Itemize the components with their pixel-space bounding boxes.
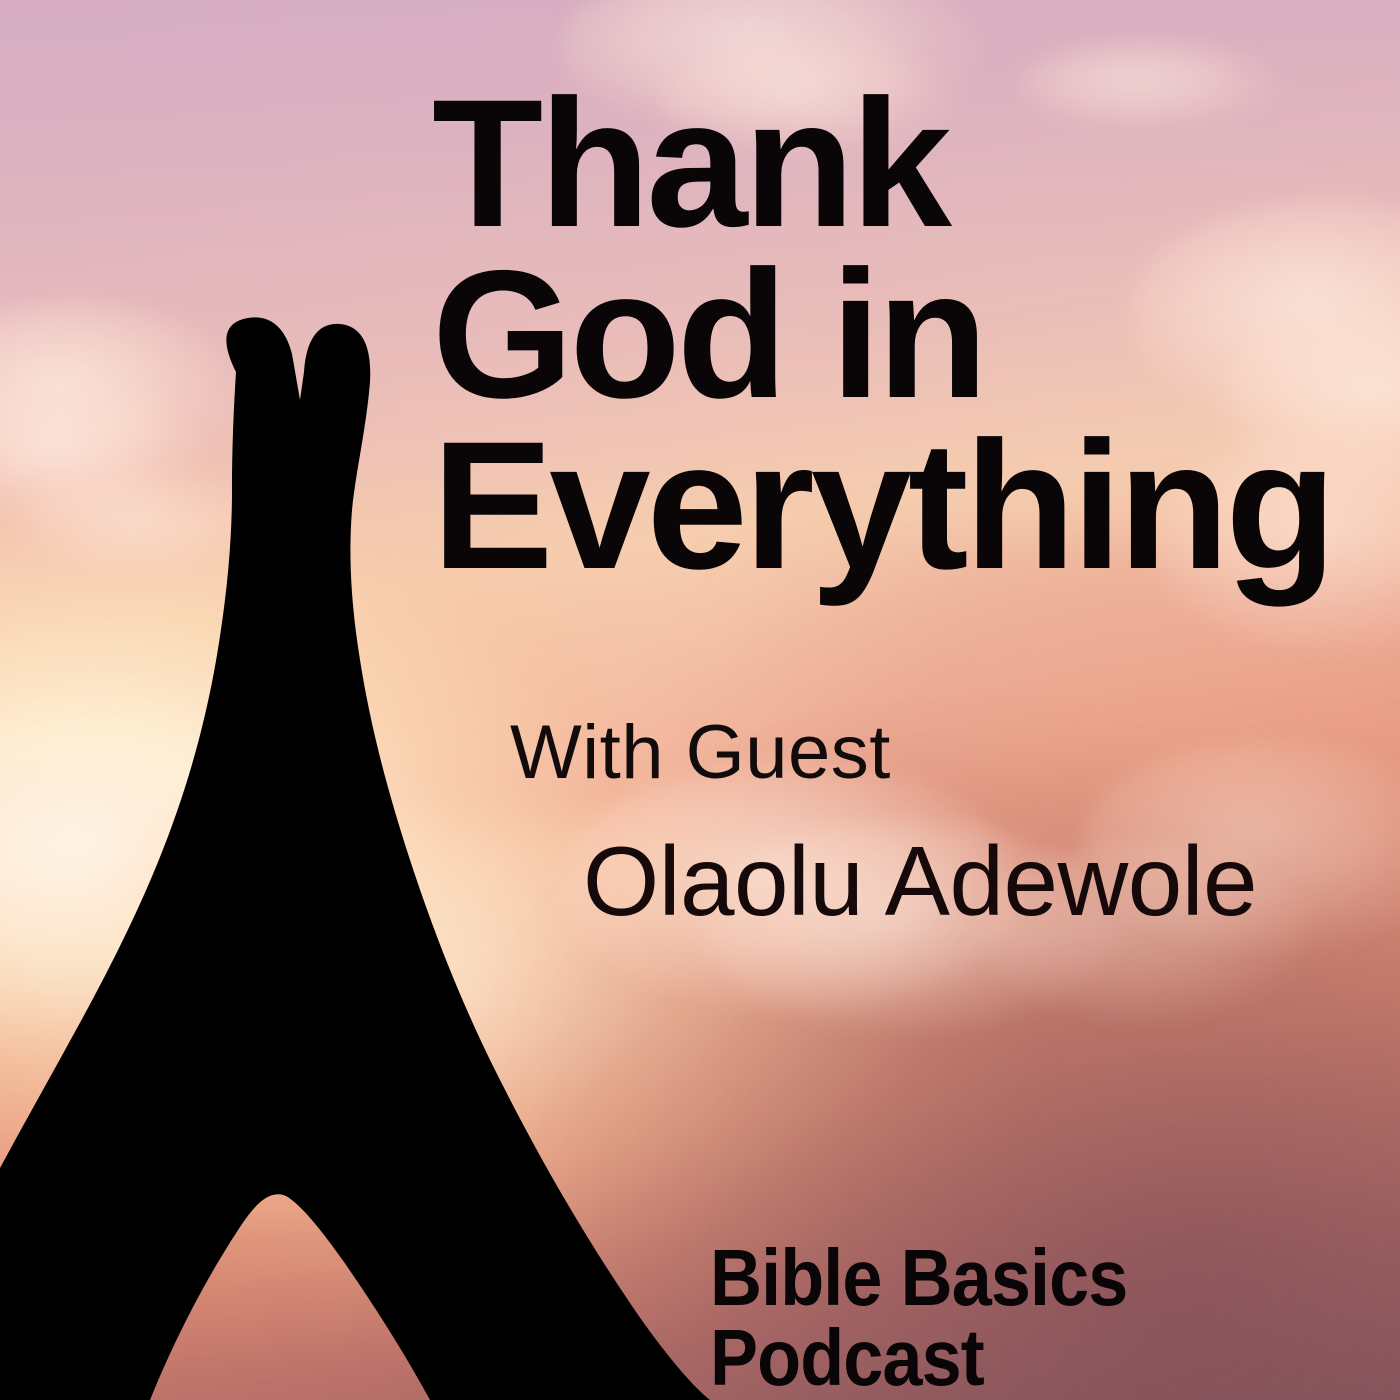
podcast-cover-art: Thank God in Everything With Guest Olaol… (0, 0, 1400, 1400)
guest-prefix-label: With Guest (510, 715, 891, 791)
podcast-brand-label: Bible Basics Podcast (710, 1238, 1331, 1398)
guest-name-label: Olaolu Adewole (583, 832, 1257, 930)
page-title: Thank God in Everything (432, 78, 1382, 591)
